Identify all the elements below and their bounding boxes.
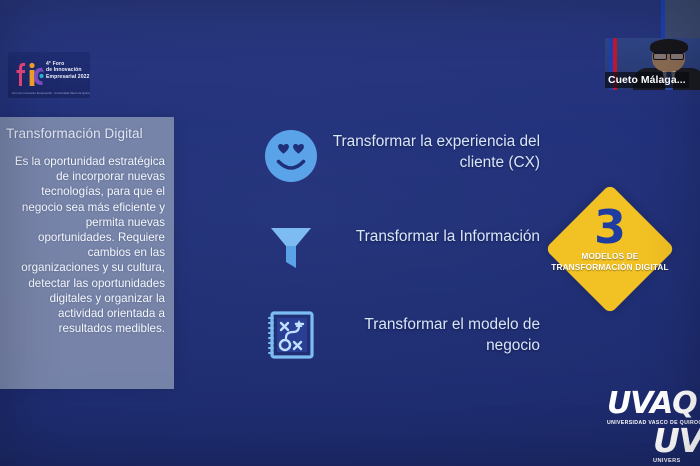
event-logo-title: 4° Foro de Innovación Empresarial 2022 (46, 61, 90, 80)
event-logo: 4° Foro de Innovación Empresarial 2022 F… (8, 52, 90, 98)
transformation-label-info: Transformar la Información (326, 214, 546, 247)
speaker-glasses (653, 51, 684, 59)
strategy-playbook-icon (256, 304, 326, 362)
fie-monogram-icon (12, 59, 46, 89)
event-logo-tagline: Foro de Innovación Empresarial · Univers… (12, 92, 90, 95)
badge-subtitle: MODELOS DE TRANSFORMACIÓN DIGITAL (545, 252, 675, 273)
badge-number: 3 (545, 204, 675, 250)
transformation-row-business-model: Transformar el modelo de negocio (256, 304, 546, 394)
transformation-list: Transformar la experiencia del cliente (… (256, 124, 546, 394)
presentation-screenshot: 4° Foro de Innovación Empresarial 2022 F… (0, 0, 700, 466)
transformation-label-business-model: Transformar el modelo de negocio (326, 304, 546, 356)
participant-name-label: Cueto Málaga... (605, 72, 689, 88)
funnel-icon (256, 214, 326, 274)
university-logo-word: UVAQ (607, 389, 700, 419)
transformation-label-cx: Transformar la experiencia del cliente (… (326, 124, 546, 173)
smiley-heart-eyes-icon (256, 124, 326, 184)
university-logo-secondary: UV UNIVERS (653, 424, 700, 464)
transformation-row-cx: Transformar la experiencia del cliente (… (256, 124, 546, 214)
models-badge: 3 MODELOS DE TRANSFORMACIÓN DIGITAL (545, 184, 675, 314)
definition-panel-body: Es la oportunidad estratégica de incorpo… (8, 154, 165, 336)
definition-panel: Transformación Digital Es la oportunidad… (0, 117, 174, 389)
definition-panel-title: Transformación Digital (6, 126, 143, 141)
transformation-row-info: Transformar la Información (256, 214, 546, 304)
university-logo-word-secondary: UV (653, 424, 700, 457)
